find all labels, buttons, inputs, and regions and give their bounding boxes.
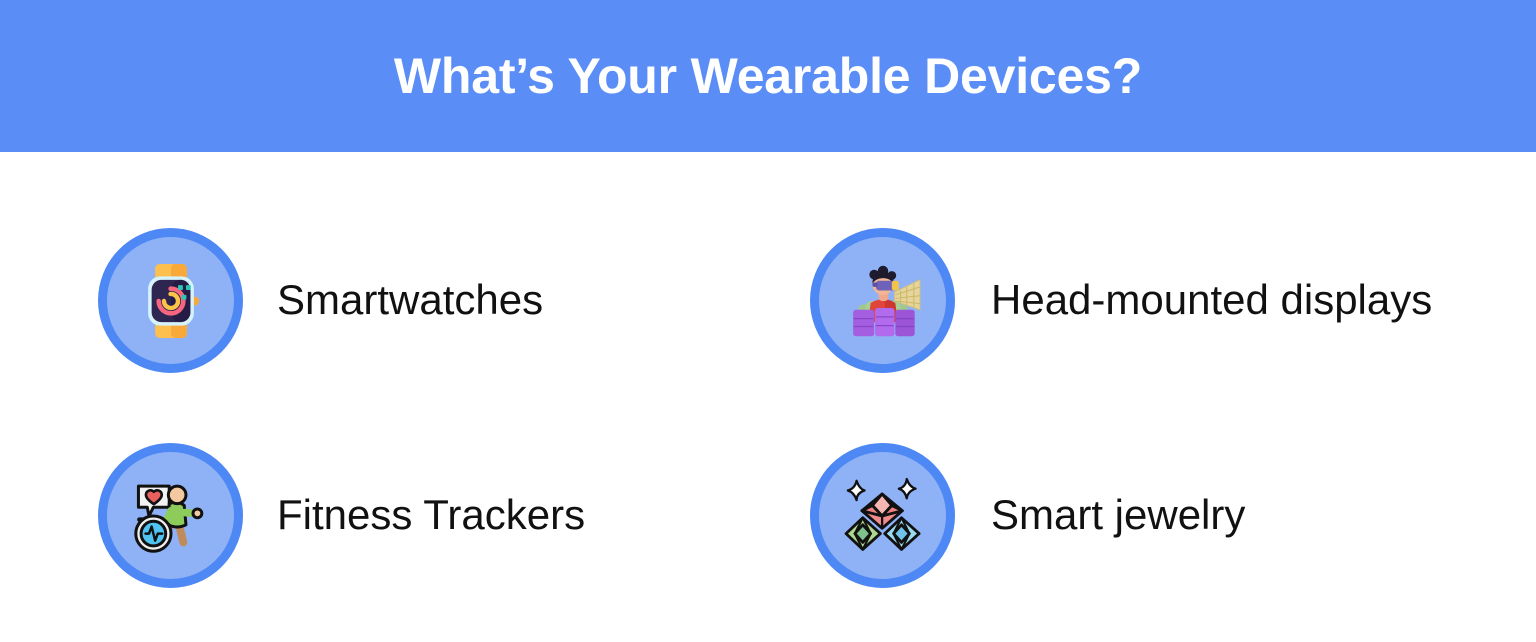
list-item-label: Head-mounted displays [991, 278, 1432, 322]
vr-headset-icon [810, 228, 955, 373]
list-item-label: Smartwatches [277, 278, 543, 322]
wearable-devices-infographic: What’s Your Wearable Devices? [0, 0, 1536, 642]
list-item-label: Smart jewelry [991, 493, 1245, 537]
list-item-fitness-trackers[interactable]: Fitness Trackers [98, 443, 585, 588]
page-title: What’s Your Wearable Devices? [394, 51, 1142, 101]
gems-icon [810, 443, 955, 588]
list-item-smart-jewelry[interactable]: Smart jewelry [810, 443, 1245, 588]
header-band: What’s Your Wearable Devices? [0, 0, 1536, 152]
list-item-label: Fitness Trackers [277, 493, 585, 537]
list-item-head-mounted-displays[interactable]: Head-mounted displays [810, 228, 1432, 373]
smartwatch-icon [98, 228, 243, 373]
fitness-tracker-icon [98, 443, 243, 588]
list-item-smartwatches[interactable]: Smartwatches [98, 228, 543, 373]
items-grid: Smartwatches [0, 152, 1536, 642]
